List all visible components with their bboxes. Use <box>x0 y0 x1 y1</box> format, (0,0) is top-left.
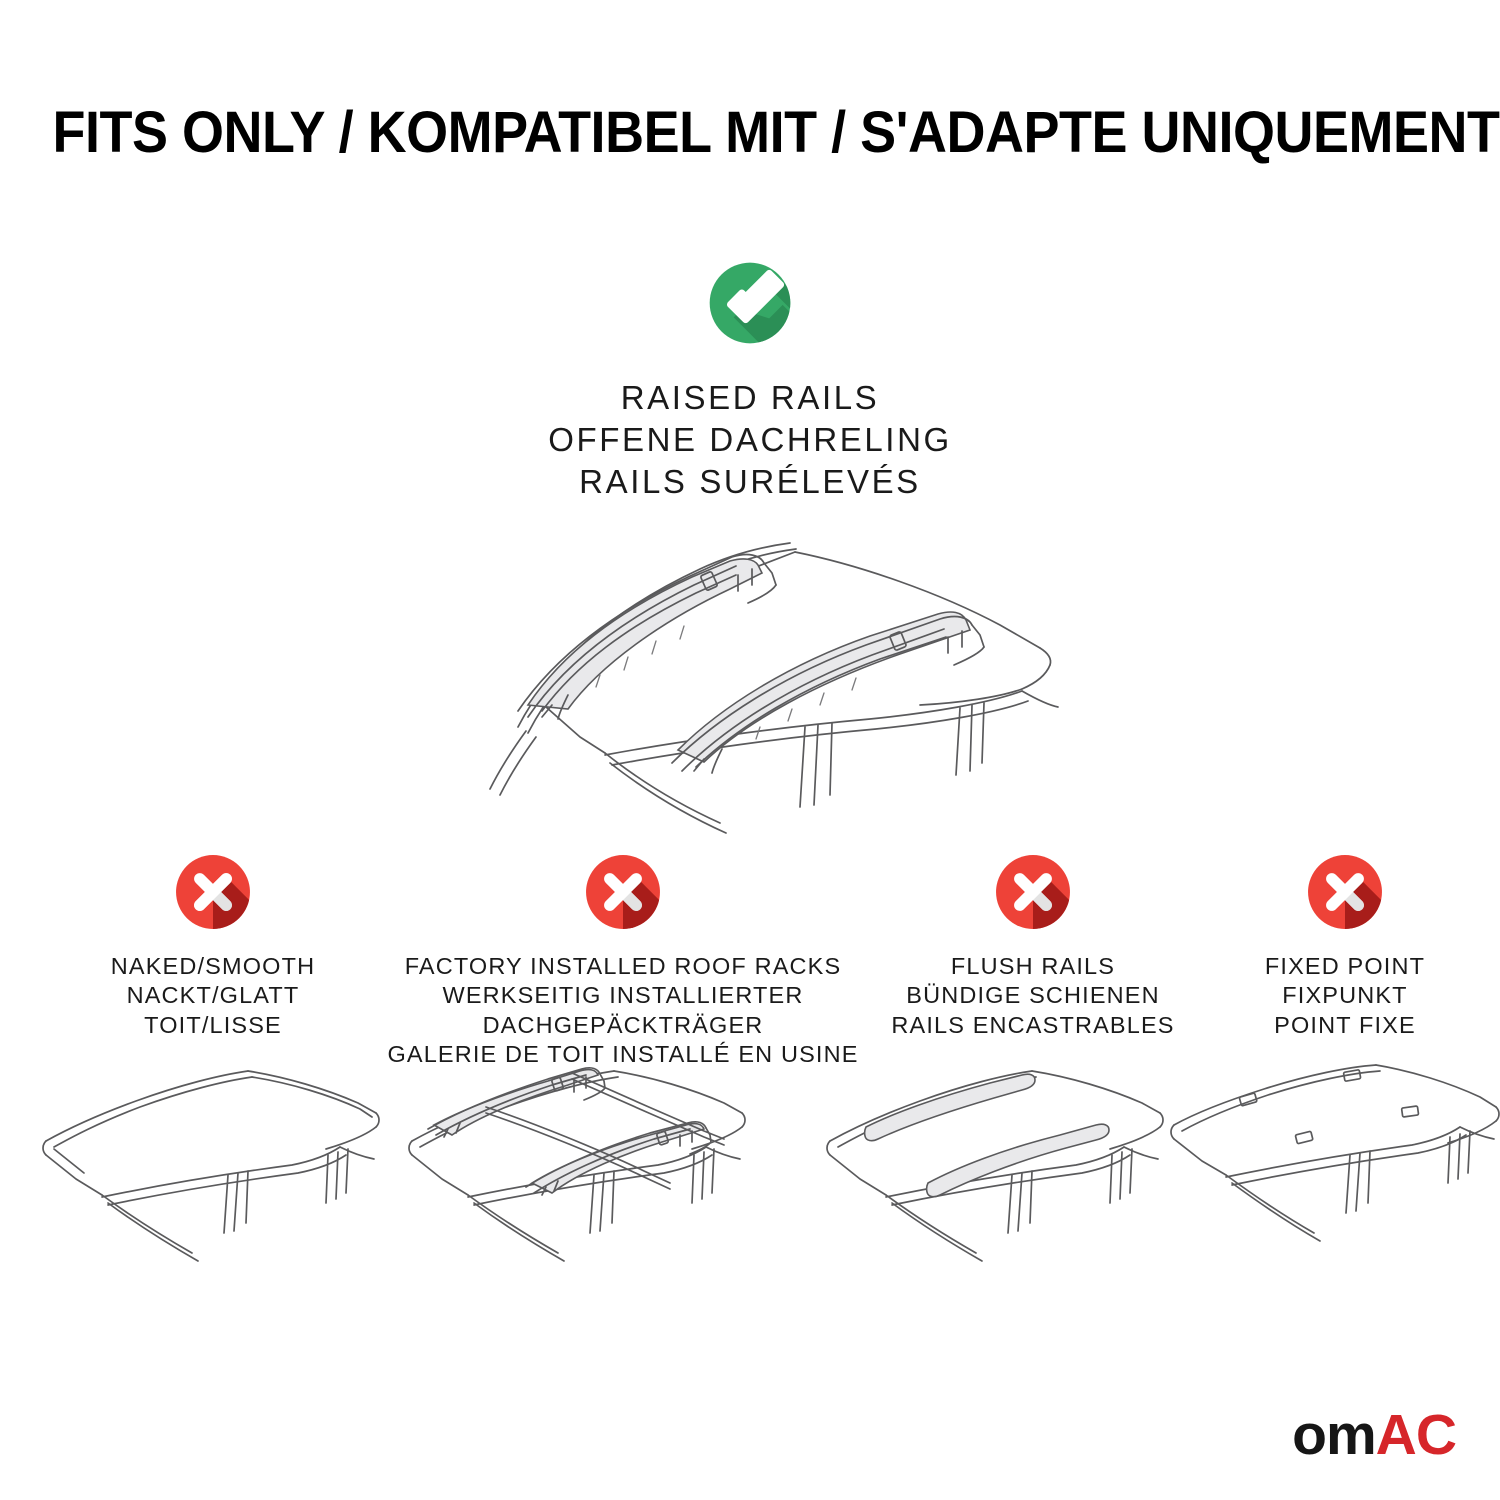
incompatible-label-fr: TOIT/LISSE <box>111 1011 315 1040</box>
cross-circle-icon <box>989 848 1077 936</box>
cross-circle-icon <box>579 848 667 936</box>
incompatible-label-fr: POINT FIXE <box>1265 1011 1425 1040</box>
incompatible-label-de-1: WERKSEITIG INSTALLIERTER <box>387 981 858 1010</box>
fitment-infographic: FITS ONLY / KOMPATIBEL MIT / S'ADAPTE UN… <box>0 0 1500 1500</box>
cross-circle-icon <box>1301 848 1389 936</box>
logo-text-dark: om <box>1292 1407 1376 1464</box>
incompatible-label-en: NAKED/SMOOTH <box>111 952 315 981</box>
compatible-label-de: OFFENE DACHRELING <box>548 419 952 461</box>
incompatible-labels: FIXED POINT FIXPUNKT POINT FIXE <box>1265 952 1425 1040</box>
illustration-factory-roof-racks <box>408 1055 776 1295</box>
incompatible-item-flush-rails: FLUSH RAILS BÜNDIGE SCHIENEN RAILS ENCAS… <box>872 848 1194 1040</box>
incompatible-label-en: FLUSH RAILS <box>891 952 1174 981</box>
incompatible-label-en: FIXED POINT <box>1265 952 1425 981</box>
compatible-label-en: RAISED RAILS <box>548 377 952 419</box>
logo-text-red: AC <box>1376 1407 1456 1464</box>
illustration-fixed-point <box>1168 1055 1500 1295</box>
omac-logo: omAC <box>1292 1407 1456 1464</box>
page-title: FITS ONLY / KOMPATIBEL MIT / S'ADAPTE UN… <box>53 104 1448 162</box>
incompatible-labels: FLUSH RAILS BÜNDIGE SCHIENEN RAILS ENCAS… <box>891 952 1174 1040</box>
incompatible-item-naked-smooth: NAKED/SMOOTH NACKT/GLATT TOIT/LISSE <box>53 848 373 1040</box>
incompatible-label-de: FIXPUNKT <box>1265 981 1425 1010</box>
compatible-block: RAISED RAILS OFFENE DACHRELING RAILS SUR… <box>0 255 1500 504</box>
incompatible-label-de-2: DACHGEPÄCKTRÄGER <box>387 1011 858 1040</box>
compatible-labels: RAISED RAILS OFFENE DACHRELING RAILS SUR… <box>548 377 952 504</box>
incompatible-labels: FACTORY INSTALLED ROOF RACKS WERKSEITIG … <box>387 952 858 1070</box>
incompatible-labels: NAKED/SMOOTH NACKT/GLATT TOIT/LISSE <box>111 952 315 1040</box>
illustration-naked-smooth <box>40 1055 400 1295</box>
incompatible-label-fr: RAILS ENCASTRABLES <box>891 1011 1174 1040</box>
check-circle-icon <box>702 255 798 351</box>
illustration-raised-rails <box>400 505 1100 835</box>
incompatible-item-fixed-point: FIXED POINT FIXPUNKT POINT FIXE <box>1205 848 1485 1040</box>
cross-circle-icon <box>169 848 257 936</box>
illustration-flush-rails <box>822 1055 1190 1295</box>
incompatible-label-de: BÜNDIGE SCHIENEN <box>891 981 1174 1010</box>
compatible-label-fr: RAILS SURÉLEVÉS <box>548 461 952 503</box>
incompatible-label-de: NACKT/GLATT <box>111 981 315 1010</box>
incompatible-item-factory-roof-racks: FACTORY INSTALLED ROOF RACKS WERKSEITIG … <box>398 848 848 1070</box>
incompatible-label-en: FACTORY INSTALLED ROOF RACKS <box>387 952 858 981</box>
